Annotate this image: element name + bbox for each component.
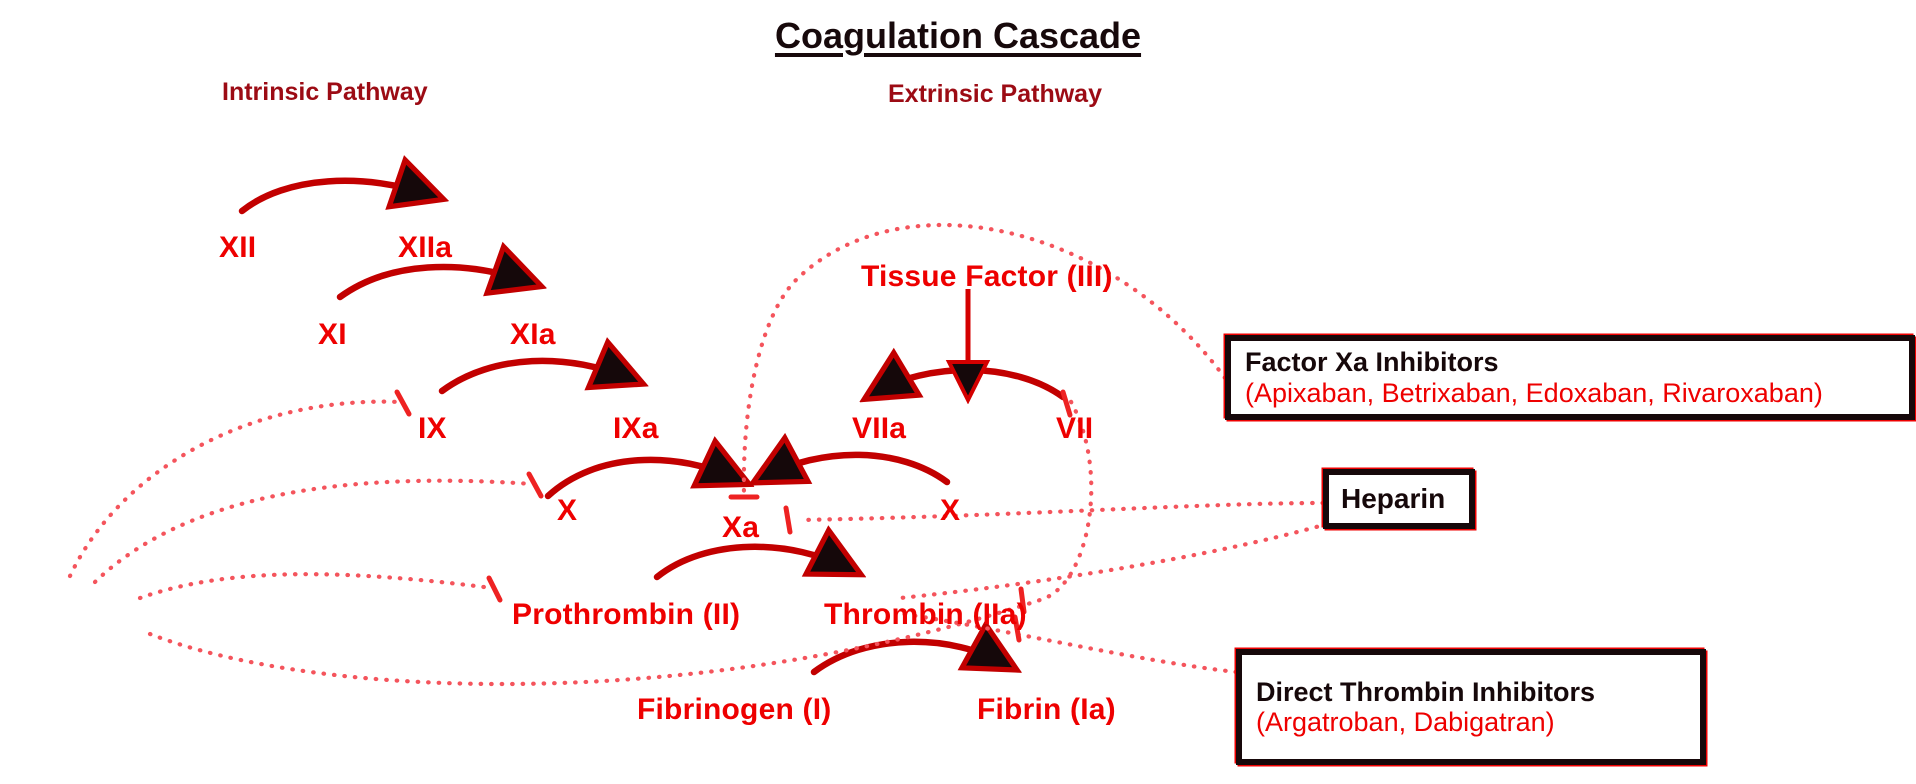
line-heparin-inhibits-thrombin: [900, 524, 1327, 598]
tick-inhibit-xa-heparin: [786, 508, 790, 532]
arrow-fibrinogen-to-fibrin: [814, 642, 1008, 672]
drug-box-title-factor-xa-inhibitors: Factor Xa Inhibitors: [1245, 347, 1895, 377]
arrow-xi-to-xia: [340, 267, 532, 297]
arrow-x-to-xa-extrinsic: [762, 455, 947, 482]
drug-box-direct-thrombin-inhibitors[interactable]: Direct Thrombin Inhibitors (Argatroban, …: [1236, 649, 1706, 765]
pathway-heading-intrinsic: Intrinsic Pathway: [222, 80, 428, 105]
tick-inhibit-prothrombin: [489, 578, 500, 600]
drug-box-title-heparin: Heparin: [1341, 485, 1457, 513]
arrow-prothrombin-to-thrombin: [657, 547, 852, 577]
coagulation-cascade-diagram: Coagulation Cascade Intrinsic Pathway Ex…: [0, 0, 1916, 784]
drug-box-subtitle-direct-thrombin-inhibitors: (Argatroban, Dabigatran): [1256, 707, 1686, 737]
factor-label-tissue-factor: Tissue Factor (III): [861, 262, 1113, 292]
factor-label-x-left: X: [557, 496, 577, 526]
page-title: Coagulation Cascade: [775, 18, 1141, 54]
drug-box-title-direct-thrombin-inhibitors: Direct Thrombin Inhibitors: [1256, 677, 1686, 707]
factor-label-fibrin: Fibrin (Ia): [977, 695, 1116, 725]
factor-label-xia: XIa: [510, 320, 556, 350]
arrow-vii-to-viia: [873, 370, 1063, 397]
tick-inhibit-x: [529, 474, 541, 496]
tick-inhibit-ix: [397, 392, 409, 414]
line-warfarin-inhibits-prothrombin: [140, 574, 492, 598]
drug-box-factor-xa-inhibitors[interactable]: Factor Xa Inhibitors (Apixaban, Betrixab…: [1225, 335, 1915, 420]
factor-label-prothrombin: Prothrombin (II): [512, 600, 740, 630]
arrow-ix-to-ixa: [442, 361, 634, 391]
arrow-xii-to-xiia: [242, 181, 434, 211]
factor-label-thrombin: Thrombin (IIa): [824, 600, 1027, 630]
arrow-x-to-xa-intrinsic: [548, 460, 740, 496]
factor-label-viia: VIIa: [852, 414, 906, 444]
factor-label-xii: XII: [219, 233, 256, 263]
factor-label-x-right: X: [940, 496, 960, 526]
drug-box-subtitle-factor-xa-inhibitors: (Apixaban, Betrixaban, Edoxaban, Rivarox…: [1245, 378, 1895, 408]
factor-label-ixa: IXa: [613, 414, 659, 444]
factor-label-fibrinogen: Fibrinogen (I): [637, 695, 831, 725]
drug-box-heparin[interactable]: Heparin: [1323, 469, 1475, 529]
factor-label-xa: Xa: [722, 513, 759, 543]
factor-label-xiia: XIIa: [398, 233, 452, 263]
factor-label-ix: IX: [418, 414, 447, 444]
pathway-heading-extrinsic: Extrinsic Pathway: [888, 82, 1102, 107]
line-warfarin-inhibits-x: [95, 481, 532, 582]
line-warfarin-inhibits-ix: [70, 402, 400, 576]
factor-label-xi: XI: [318, 320, 347, 350]
line-heparin-inhibits-xa: [800, 503, 1323, 520]
factor-label-vii: VII: [1056, 414, 1093, 444]
